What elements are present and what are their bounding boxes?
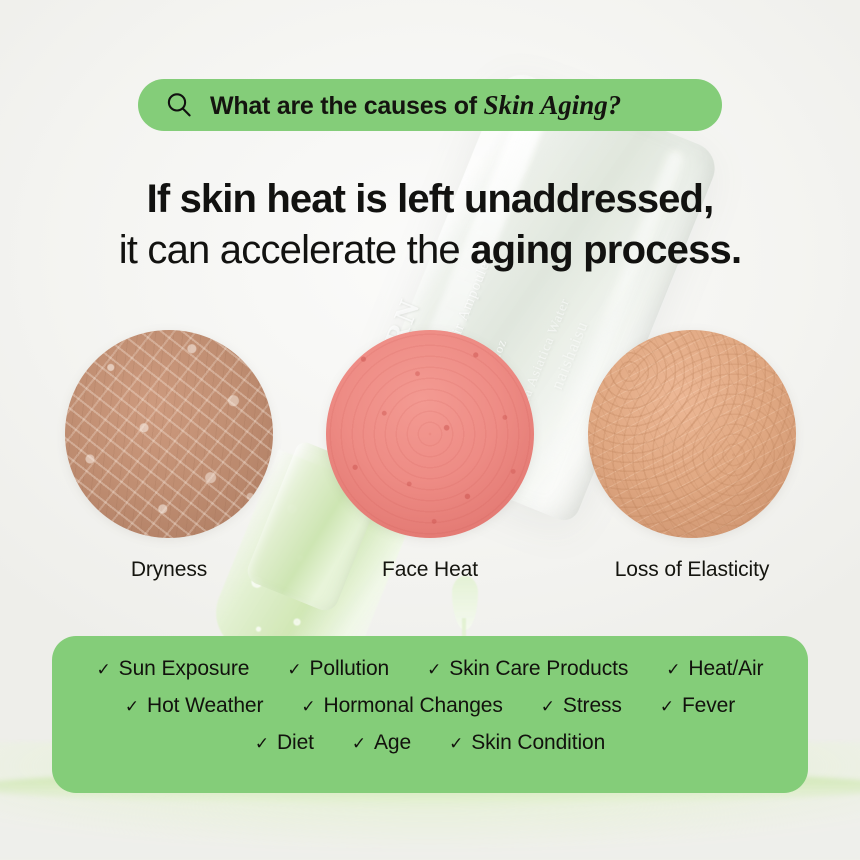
condition-dryness: Dryness [65,330,273,538]
search-question-italic: Skin Aging? [484,90,622,120]
cause-skin-condition: ✓ Skin Condition [449,731,605,755]
cause-label: Skin Care Products [449,657,628,681]
cause-label: Heat/Air [688,657,763,681]
cause-label: Stress [563,694,622,718]
infographic-canvas: PDRN Cooling Repair Ampoule 50 ml / 1.69… [0,0,860,860]
loss-of-elasticity-skin-image [588,330,796,538]
cause-label: Hot Weather [147,694,263,718]
cause-diet: ✓ Diet [255,731,314,755]
check-icon: ✓ [125,698,139,715]
check-icon: ✓ [449,735,463,752]
headline-line-2: it can accelerate the aging process. [0,227,860,274]
causes-row-2: ✓ Hot Weather ✓ Hormonal Changes ✓ Stres… [52,687,808,724]
cause-label: Age [374,731,411,755]
search-question-pill[interactable]: What are the causes of Skin Aging? [138,79,722,131]
check-icon: ✓ [352,735,366,752]
cause-heat-air: ✓ Heat/Air [666,657,763,681]
gel-bubble [255,626,262,633]
check-icon: ✓ [287,661,301,678]
gel-bubble [292,617,301,626]
search-question-text: What are the causes of Skin Aging? [210,90,621,121]
causes-row-3: ✓ Diet ✓ Age ✓ Skin Condition [52,724,808,761]
headline-line-2-regular: it can accelerate the [119,228,471,272]
skin-condition-circles: Dryness Face Heat Loss of Elasticity [0,330,860,550]
causes-checklist-panel: ✓ Sun Exposure ✓ Pollution ✓ Skin Care P… [52,636,808,793]
loss-of-elasticity-label: Loss of Elasticity [572,558,812,582]
cause-pollution: ✓ Pollution [287,657,389,681]
cause-label: Fever [682,694,735,718]
cause-label: Pollution [309,657,389,681]
cause-skin-care-products: ✓ Skin Care Products [427,657,628,681]
cause-stress: ✓ Stress [541,694,622,718]
cause-label: Hormonal Changes [324,694,503,718]
cause-fever: ✓ Fever [660,694,735,718]
search-question-plain: What are the causes of [210,92,484,120]
dryness-label: Dryness [65,558,273,582]
cause-sun-exposure: ✓ Sun Exposure [97,657,250,681]
causes-row-1: ✓ Sun Exposure ✓ Pollution ✓ Skin Care P… [52,650,808,687]
headline-line-1: If skin heat is left unaddressed, [0,176,860,223]
condition-loss-of-elasticity: Loss of Elasticity [588,330,796,538]
condition-face-heat: Face Heat [326,330,534,538]
face-heat-skin-image [326,330,534,538]
check-icon: ✓ [666,661,680,678]
cause-label: Skin Condition [471,731,605,755]
search-icon [164,90,194,120]
check-icon: ✓ [255,735,269,752]
cause-hot-weather: ✓ Hot Weather [125,694,264,718]
check-icon: ✓ [427,661,441,678]
cause-age: ✓ Age [352,731,411,755]
cause-label: Diet [277,731,314,755]
headline-line-2-bold: aging process. [470,228,741,272]
check-icon: ✓ [301,698,315,715]
check-icon: ✓ [97,661,111,678]
headline: If skin heat is left unaddressed, it can… [0,176,860,274]
cause-label: Sun Exposure [119,657,250,681]
dryness-skin-image [65,330,273,538]
cause-hormonal-changes: ✓ Hormonal Changes [301,694,502,718]
face-heat-label: Face Heat [326,558,534,582]
check-icon: ✓ [660,698,674,715]
check-icon: ✓ [541,698,555,715]
